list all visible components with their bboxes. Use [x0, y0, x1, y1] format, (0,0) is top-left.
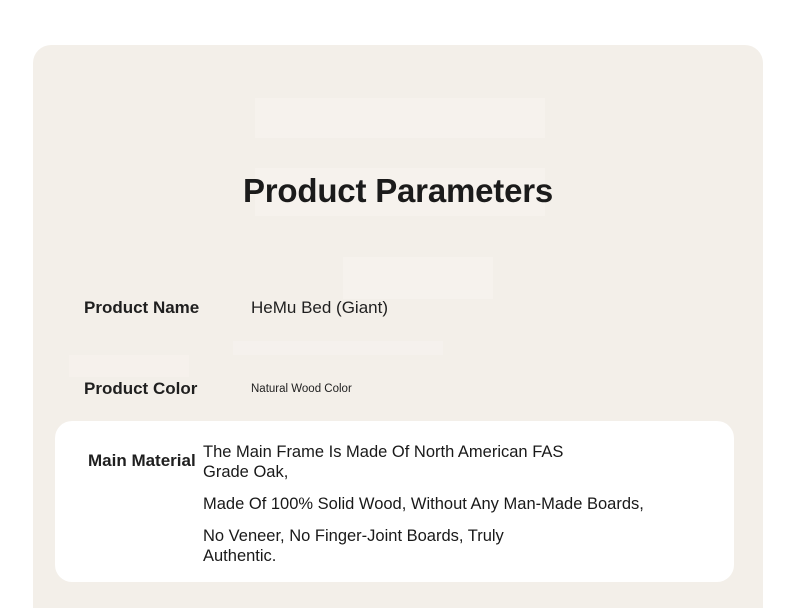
- material-line: Made Of 100% Solid Wood, Without Any Man…: [203, 494, 644, 514]
- background-wash-block: [255, 98, 545, 138]
- material-line: No Veneer, No Finger-Joint Boards, Truly: [203, 526, 644, 546]
- parameter-value-product-color: Natural Wood Color: [251, 379, 763, 399]
- material-line: Grade Oak,: [203, 462, 644, 482]
- background-wash-block: [69, 355, 189, 377]
- parameter-value-main-material: The Main Frame Is Made Of North American…: [203, 421, 644, 566]
- page-title: Product Parameters: [33, 169, 763, 213]
- parameter-value-product-name: HeMu Bed (Giant): [251, 295, 763, 321]
- material-line: The Main Frame Is Made Of North American…: [203, 442, 644, 462]
- material-paragraph-3: No Veneer, No Finger-Joint Boards, Truly…: [203, 526, 644, 566]
- material-line: Authentic.: [203, 546, 644, 566]
- product-parameters-page: { "theme": { "page_background": "#FFFFFF…: [0, 0, 790, 608]
- parameter-label-main-material: Main Material: [55, 421, 203, 471]
- parameter-label-product-name: Product Name: [33, 295, 251, 321]
- parameter-row-product-name: Product Name HeMu Bed (Giant): [33, 295, 763, 321]
- parameter-label-product-color: Product Color: [33, 376, 251, 402]
- background-wash-block: [233, 341, 443, 355]
- material-paragraph-1: The Main Frame Is Made Of North American…: [203, 442, 644, 482]
- background-wash-block: [343, 257, 493, 299]
- parameter-row-product-color: Product Color Natural Wood Color: [33, 376, 763, 402]
- material-paragraph-2: Made Of 100% Solid Wood, Without Any Man…: [203, 494, 644, 514]
